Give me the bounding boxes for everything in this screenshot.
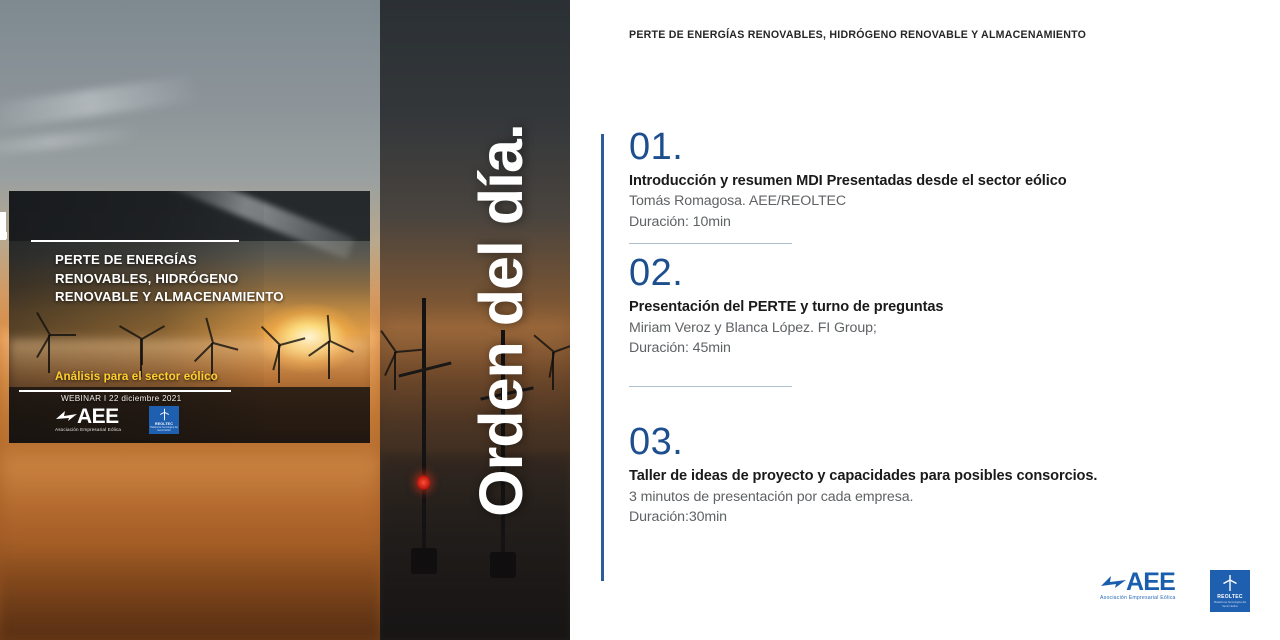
wind-turbine-silhouette: [259, 323, 299, 377]
agenda-item-title: Taller de ideas de proyecto y capacidade…: [629, 467, 1189, 486]
aee-bird-icon: [1100, 574, 1128, 592]
agenda-item-duration: Duración:30min: [629, 507, 1189, 528]
reoltec-logo-tagline: Plataforma Tecnológica del Sector Eólico: [149, 427, 179, 433]
agenda-item-number: 03.: [629, 423, 1189, 461]
wind-turbine-silhouette: [309, 319, 349, 375]
agenda-item-title: Introducción y resumen MDI Presentadas d…: [629, 172, 1189, 191]
agenda-item-speaker: 3 minutos de presentación por cada empre…: [629, 487, 1189, 508]
agenda-divider-2: [629, 386, 792, 388]
reoltec-logo-name: REOLTEC: [1217, 594, 1243, 600]
agenda-item-number: 01.: [629, 128, 1189, 166]
reoltec-logo-small: REOLTEC Plataforma Tecnológica del Secto…: [149, 406, 179, 434]
reoltec-logo-name: REOLTEC: [155, 422, 173, 426]
vertical-section-title-text: Orden del día.: [471, 124, 532, 517]
footer-logo-group: AEE Asociación Empresarial Eólica REOLTE…: [1100, 570, 1250, 612]
title-card-top-rule: [31, 240, 239, 242]
title-card-logo-group: AEE Asociación Empresarial Eólica REOLTE…: [55, 406, 179, 434]
title-card-webinar-date: WEBINAR I 22 diciembre 2021: [61, 394, 182, 403]
cloud-streak-decor-2: [0, 126, 140, 159]
agenda-item-speaker: Tomás Romagosa. AEE/REOLTEC: [629, 191, 1189, 212]
agenda-item-03: 03. Taller de ideas de proyecto y capaci…: [629, 423, 1189, 528]
agenda-item-title: Presentación del PERTE y turno de pregun…: [629, 298, 1189, 317]
agenda-item-speaker: Miriam Veroz y Blanca López. FI Group;: [629, 318, 1189, 339]
foreground-shadow-decor: [0, 550, 380, 640]
agenda-list: 01. Introducción y resumen MDI Presentad…: [629, 128, 1189, 528]
agenda-item-02: 02. Presentación del PERTE y turno de pr…: [629, 254, 1189, 359]
aee-logo-letters: AEE: [1126, 570, 1175, 595]
agenda-item-01: 01. Introducción y resumen MDI Presentad…: [629, 128, 1189, 233]
aee-logo-blue: AEE Asociación Empresarial Eólica: [1100, 570, 1192, 604]
title-card-subtitle: Análisis para el sector eólico: [55, 370, 218, 383]
agenda-item-duration: Duración: 45min: [629, 338, 1189, 359]
vertical-section-title: Orden del día.: [380, 0, 570, 640]
reoltec-logo-tagline: Plataforma Tecnológica del Sector Eólico: [1210, 601, 1250, 608]
reoltec-turbine-icon: [1220, 574, 1240, 592]
agenda-item-number: 02.: [629, 254, 1189, 292]
wind-turbine-silhouette: [119, 317, 163, 375]
aee-logo-letters: AEE: [77, 406, 119, 427]
page-kicker: PERTE DE ENERGÍAS RENOVABLES, HIDRÓGENO …: [629, 29, 1086, 41]
left-edge-dot-decor: [0, 232, 7, 239]
cloud-streak-decor: [0, 75, 201, 131]
reoltec-logo: REOLTEC Plataforma Tecnológica del Secto…: [1210, 570, 1250, 612]
agenda-divider-1: [629, 243, 792, 245]
aee-logo-white: AEE Asociación Empresarial Eólica: [55, 406, 137, 434]
agenda-accent-bar: [601, 134, 604, 581]
reoltec-turbine-icon: [157, 408, 172, 421]
wind-turbine-silhouette: [27, 313, 71, 375]
title-card-bottom-rule: [19, 390, 231, 392]
title-card-image: PERTE DE ENERGÍAS RENOVABLES, HIDRÓGENO …: [9, 191, 370, 443]
agenda-item-duration: Duración: 10min: [629, 212, 1189, 233]
aee-bird-icon: [55, 409, 79, 425]
aee-logo-tagline: Asociación Empresarial Eólica: [55, 427, 121, 432]
title-card-title: PERTE DE ENERGÍAS RENOVABLES, HIDRÓGENO …: [55, 251, 285, 307]
wind-turbine-silhouette: [191, 321, 233, 377]
aee-logo-tagline: Asociación Empresarial Eólica: [1100, 595, 1176, 601]
